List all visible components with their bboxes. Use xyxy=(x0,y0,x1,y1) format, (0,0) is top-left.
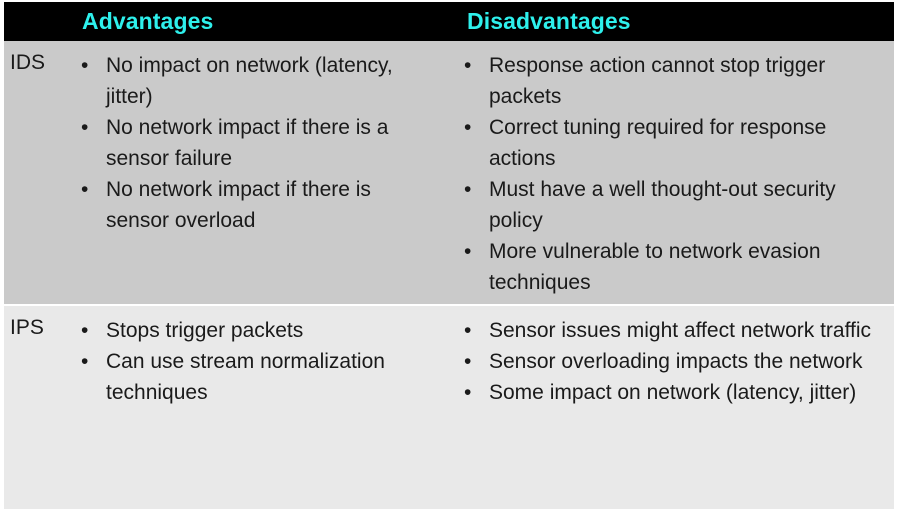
bullet-list: • Response action cannot stop trigger pa… xyxy=(459,50,889,298)
list-item: • Can use stream normalization technique… xyxy=(76,346,406,408)
list-item: • Some impact on network (latency, jitte… xyxy=(459,377,889,408)
list-item-label: Some impact on network (latency, jitter) xyxy=(489,377,889,408)
row-label-ips: IPS xyxy=(10,316,44,340)
bullet-icon: • xyxy=(464,112,471,143)
row-label-ids: IDS xyxy=(10,51,45,75)
list-item-label: Sensor overloading impacts the network xyxy=(489,346,889,377)
ids-ips-comparison-table: Advantages Disadvantages IDS • No impact… xyxy=(0,0,898,509)
list-item-label: Sensor issues might affect network traff… xyxy=(489,315,889,346)
list-item: • No network impact if there is sensor o… xyxy=(76,174,406,236)
bullet-icon: • xyxy=(81,315,88,346)
column-header-disadvantages: Disadvantages xyxy=(467,2,631,41)
list-item: • Sensor issues might affect network tra… xyxy=(459,315,889,346)
list-item: • Response action cannot stop trigger pa… xyxy=(459,50,889,112)
list-item-label: No impact on network (latency, jitter) xyxy=(106,50,406,112)
list-item: • Correct tuning required for response a… xyxy=(459,112,889,174)
bullet-icon: • xyxy=(464,346,471,377)
list-item: • No network impact if there is a sensor… xyxy=(76,112,406,174)
cell-ids-advantages: • No impact on network (latency, jitter)… xyxy=(76,50,406,236)
column-header-advantages: Advantages xyxy=(82,2,213,41)
bullet-icon: • xyxy=(464,236,471,267)
bullet-list: • Sensor issues might affect network tra… xyxy=(459,315,889,408)
list-item-label: Stops trigger packets xyxy=(106,315,406,346)
table-row: IPS • Stops trigger packets • Can use st… xyxy=(4,306,894,509)
list-item-label: No network impact if there is a sensor f… xyxy=(106,112,406,174)
table-header-row: Advantages Disadvantages xyxy=(4,2,894,41)
bullet-icon: • xyxy=(81,50,88,81)
list-item: • No impact on network (latency, jitter) xyxy=(76,50,406,112)
bullet-icon: • xyxy=(81,346,88,377)
bullet-icon: • xyxy=(464,50,471,81)
list-item-label: More vulnerable to network evasion techn… xyxy=(489,236,889,298)
cell-ips-disadvantages: • Sensor issues might affect network tra… xyxy=(459,315,889,408)
bullet-icon: • xyxy=(81,174,88,205)
bullet-icon: • xyxy=(464,315,471,346)
list-item-label: Response action cannot stop trigger pack… xyxy=(489,50,889,112)
list-item: • More vulnerable to network evasion tec… xyxy=(459,236,889,298)
bullet-icon: • xyxy=(464,377,471,408)
list-item-label: Must have a well thought-out security po… xyxy=(489,174,889,236)
cell-ids-disadvantages: • Response action cannot stop trigger pa… xyxy=(459,50,889,298)
bullet-icon: • xyxy=(81,112,88,143)
bullet-icon: • xyxy=(464,174,471,205)
list-item: • Stops trigger packets xyxy=(76,315,406,346)
cell-ips-advantages: • Stops trigger packets • Can use stream… xyxy=(76,315,406,408)
list-item-label: Correct tuning required for response act… xyxy=(489,112,889,174)
table-row: IDS • No impact on network (latency, jit… xyxy=(4,41,894,304)
list-item-label: Can use stream normalization techniques xyxy=(106,346,406,408)
list-item-label: No network impact if there is sensor ove… xyxy=(106,174,406,236)
bullet-list: • Stops trigger packets • Can use stream… xyxy=(76,315,406,408)
bullet-list: • No impact on network (latency, jitter)… xyxy=(76,50,406,236)
list-item: • Sensor overloading impacts the network xyxy=(459,346,889,377)
list-item: • Must have a well thought-out security … xyxy=(459,174,889,236)
